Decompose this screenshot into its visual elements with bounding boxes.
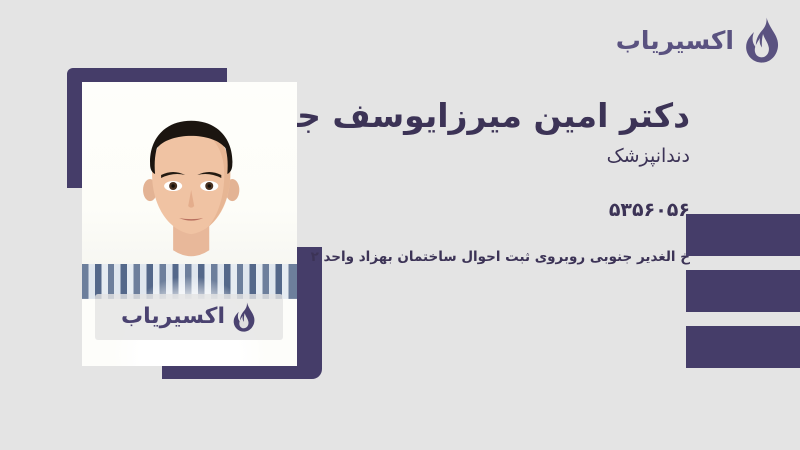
doctor-name: دکتر امین میرزایوسف جدید: [330, 95, 690, 136]
watermark-label: اکسیریاب: [121, 306, 225, 328]
decorative-bar-1: [686, 214, 800, 256]
brand-name: اکسیریاب: [616, 28, 734, 53]
decorative-bar-3: [686, 326, 800, 368]
portrait-face-illustration: [131, 105, 251, 281]
flame-droplet-icon: [742, 16, 782, 64]
doctor-info: دکتر امین میرزایوسف جدید دندانپزشک ۵۳۵۶۰…: [330, 95, 690, 267]
decorative-bar-2: [686, 270, 800, 312]
doctor-specialty: دندانپزشک: [330, 144, 690, 169]
brand-logo[interactable]: اکسیریاب: [616, 14, 782, 66]
phone-number[interactable]: ۵۳۵۶۰۵۶: [330, 199, 690, 221]
photo-block: اکسیریاب: [62, 62, 322, 387]
clinic-address: خ الغدیر جنوبی روبروی ثبت احوال ساختمان …: [330, 247, 690, 267]
flame-droplet-icon: [231, 301, 257, 333]
doctor-photo: اکسیریاب: [82, 82, 297, 366]
business-card: اکسیریاب: [0, 0, 800, 450]
photo-watermark: اکسیریاب: [95, 294, 283, 340]
